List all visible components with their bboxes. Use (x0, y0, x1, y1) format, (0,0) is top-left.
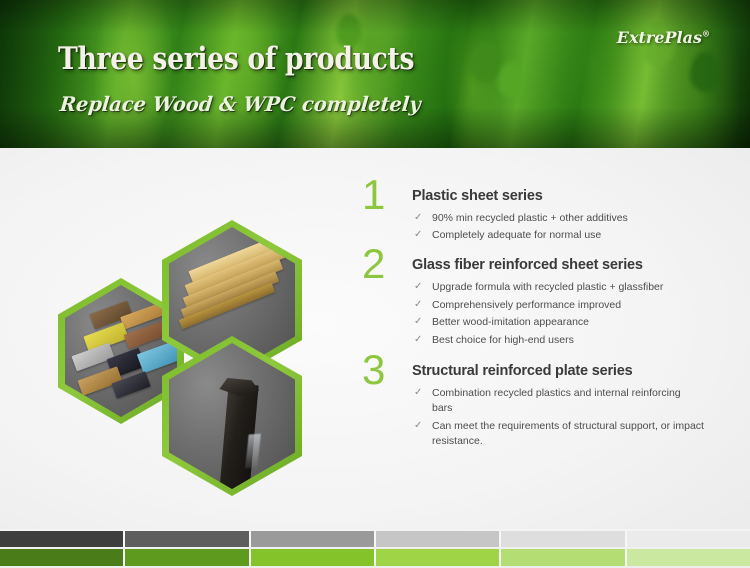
product-series-list: 1 Plastic sheet series ✓ 90% min recycle… (362, 188, 732, 463)
series-number: 1 (362, 174, 400, 216)
brand-logo: ExtrePlas® (617, 28, 710, 47)
bullet-item: ✓ Combination recycled plastics and inte… (412, 386, 682, 416)
bullet-item: ✓ Can meet the requirements of structura… (412, 419, 714, 449)
green-swatch-2 (125, 549, 250, 566)
bullet-item: ✓ 90% min recycled plastic + other addit… (412, 211, 732, 226)
slide-root: Three series of products Replace Wood & … (0, 0, 750, 568)
bullet-text: Upgrade formula with recycled plastic + … (432, 281, 663, 293)
bullet-item: ✓ Completely adequate for normal use (412, 228, 732, 243)
series-title: Structural reinforced plate series (412, 363, 732, 379)
bullet-text: Combination recycled plastics and intern… (432, 387, 681, 414)
series-title: Glass fiber reinforced sheet series (412, 257, 732, 273)
bullet-text: 90% min recycled plastic + other additiv… (432, 212, 628, 224)
footer-color-bar (0, 529, 750, 568)
series-item-3: 3 Structural reinforced plate series ✓ C… (362, 363, 732, 448)
series-item-1: 1 Plastic sheet series ✓ 90% min recycle… (362, 188, 732, 243)
page-title: Three series of products (58, 41, 414, 77)
series-title: Plastic sheet series (412, 188, 732, 204)
green-swatch-1 (0, 549, 125, 566)
hexagon-photo (65, 285, 177, 417)
gray-swatch-1 (0, 531, 125, 547)
bullet-item: ✓ Comprehensively performance improved (412, 298, 732, 313)
green-swatch-6 (627, 549, 750, 566)
bullet-text: Better wood-imitation appearance (432, 316, 589, 328)
bullet-item: ✓ Better wood-imitation appearance (412, 315, 732, 330)
hexagon-image-cluster (58, 230, 328, 480)
gray-swatch-6 (627, 531, 750, 547)
series-number: 3 (362, 349, 400, 391)
series-bullet-list: ✓ 90% min recycled plastic + other addit… (412, 211, 732, 243)
bullet-text: Can meet the requirements of structural … (432, 420, 704, 447)
green-swatch-4 (376, 549, 501, 566)
content-area: 1 Plastic sheet series ✓ 90% min recycle… (0, 148, 750, 529)
product-post-highlight (245, 433, 261, 468)
green-swatch-3 (251, 549, 376, 566)
series-number: 2 (362, 243, 400, 285)
gray-swatch-5 (501, 531, 626, 547)
bullet-text: Comprehensively performance improved (432, 299, 621, 311)
series-item-2: 2 Glass fiber reinforced sheet series ✓ … (362, 257, 732, 347)
check-icon: ✓ (414, 211, 422, 225)
check-icon: ✓ (414, 333, 422, 347)
series-bullet-list: ✓ Combination recycled plastics and inte… (412, 386, 732, 448)
green-swatch-5 (501, 549, 626, 566)
gray-swatch-4 (376, 531, 501, 547)
gray-swatch-row (0, 531, 750, 547)
check-icon: ✓ (414, 228, 422, 242)
bullet-item: ✓ Best choice for high-end users (412, 333, 732, 348)
hexagon-photo (169, 343, 295, 489)
bullet-item: ✓ Upgrade formula with recycled plastic … (412, 280, 672, 295)
series-bullet-list: ✓ Upgrade formula with recycled plastic … (412, 280, 732, 347)
gray-swatch-3 (251, 531, 376, 547)
product-block (137, 341, 177, 373)
brand-logo-text: ExtrePlas (617, 28, 702, 47)
gray-swatch-2 (125, 531, 250, 547)
check-icon: ✓ (414, 315, 422, 329)
check-icon: ✓ (414, 280, 422, 294)
header-banner: Three series of products Replace Wood & … (0, 0, 750, 148)
bullet-text: Completely adequate for normal use (432, 229, 601, 241)
check-icon: ✓ (414, 386, 422, 400)
registered-trademark-icon: ® (702, 29, 710, 39)
check-icon: ✓ (414, 419, 422, 433)
bullet-text: Best choice for high-end users (432, 334, 574, 346)
page-subtitle: Replace Wood & WPC completely (59, 92, 422, 116)
green-swatch-row (0, 549, 750, 566)
check-icon: ✓ (414, 298, 422, 312)
